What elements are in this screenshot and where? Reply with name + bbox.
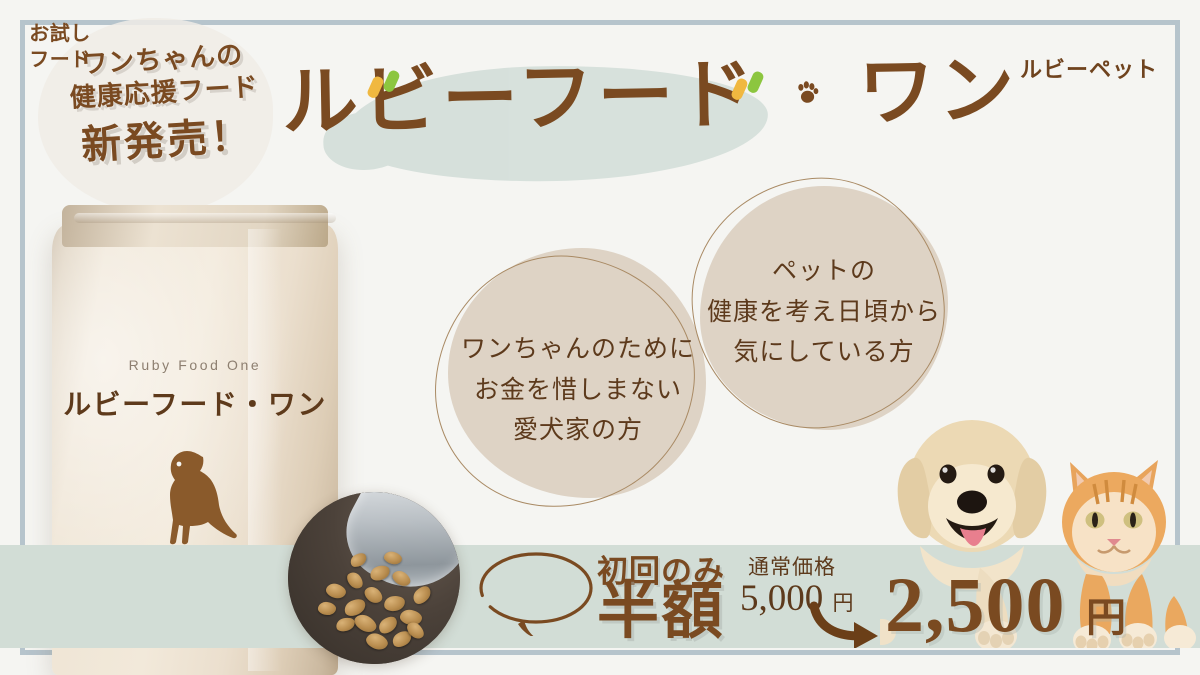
curved-arrow-right-icon <box>810 600 882 648</box>
sale-price-value: 2,500 <box>885 561 1066 648</box>
title-part-2: ワン <box>858 45 1020 137</box>
feature-line: ワンちゃんのために <box>448 330 708 371</box>
package-label-english: Ruby Food One <box>52 357 338 373</box>
trial-speech-bubble <box>478 548 598 636</box>
paw-print-glyph <box>796 80 820 106</box>
feature-line: ペットの <box>690 252 958 293</box>
feature-line: お金を惜しまない <box>448 371 708 412</box>
feature-text-dog-lover: ワンちゃんのために お金を惜しまない 愛犬家の方 <box>448 330 708 452</box>
sale-price: 2,500 円 <box>885 566 1127 644</box>
title-part-1: ルビーフード <box>281 49 758 146</box>
bag-top-seal <box>62 205 328 247</box>
feature-line: 健康を考え日頃から <box>690 293 958 334</box>
feature-text-health-conscious: ペットの 健康を考え日頃から 気にしている方 <box>690 252 958 374</box>
half-price-label: 半額 <box>597 578 725 643</box>
brand-logo-text: ルビーペット <box>1020 52 1158 84</box>
dog-silhouette-icon <box>147 445 243 553</box>
trial-bubble-label: お試し フード <box>0 20 120 72</box>
trial-bubble-line-1: お試し <box>0 20 120 46</box>
package-label-japanese: ルビーフード・ワン <box>52 383 338 423</box>
sale-price-unit: 円 <box>1086 595 1127 640</box>
bag-zip-seam <box>74 213 336 223</box>
paw-print-icon <box>788 98 828 99</box>
trial-bubble-line-2: フード <box>0 46 120 72</box>
promo-banner: ワンちゃんの 健康応援フード 新発売！ ルビーフード ワン ルビーペット ワン <box>0 0 1200 675</box>
page-title: ルビーフード ワン <box>281 52 1019 141</box>
feature-line: 愛犬家の方 <box>448 411 708 452</box>
feature-line: 気にしている方 <box>690 333 958 374</box>
kibble-photo <box>288 492 460 664</box>
